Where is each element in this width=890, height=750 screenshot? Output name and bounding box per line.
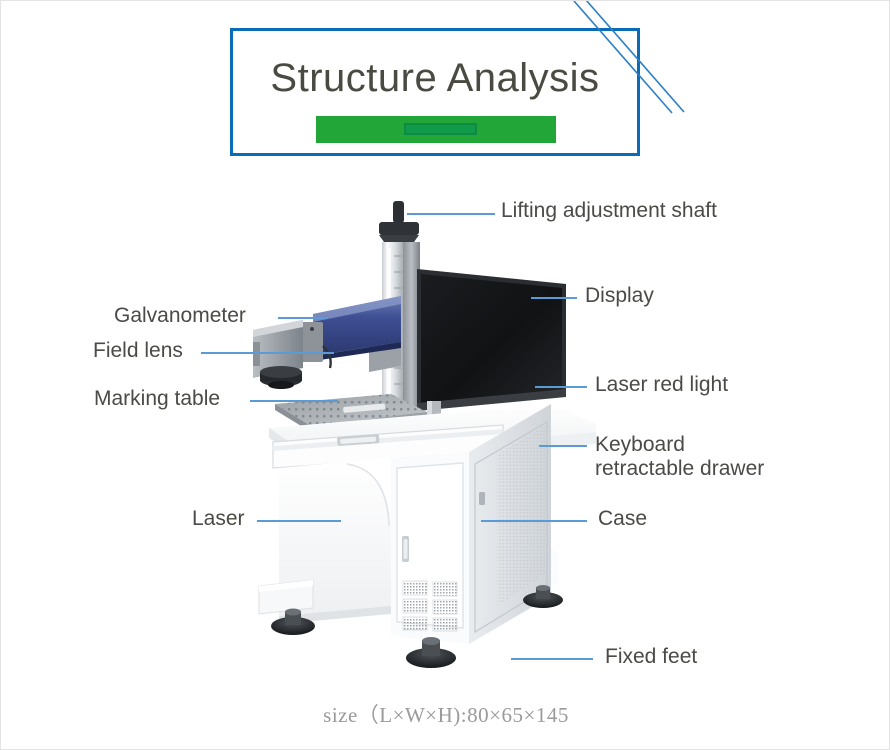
lead-line-galvanometer: [278, 317, 328, 319]
lead-line-field-lens: [201, 352, 334, 354]
laser-marking-machine-illustration: [251, 196, 611, 676]
callout-label-fixed-feet: Fixed feet: [605, 645, 697, 670]
callout-label-keyboard-line2: retractable drawer: [595, 457, 764, 480]
page-title: Structure Analysis: [230, 56, 640, 101]
callout-label-keyboard-line1: Keyboard: [595, 433, 685, 456]
lead-line-laser: [257, 520, 341, 522]
lead-line-case: [481, 520, 587, 522]
callout-label-galvanometer: Galvanometer: [114, 304, 246, 329]
lead-line-keyboard-drawer: [539, 445, 587, 447]
callout-label-laser: Laser: [192, 507, 245, 532]
callout-label-lifting-adjustment-shaft: Lifting adjustment shaft: [501, 199, 717, 224]
callout-label-marking-table: Marking table: [94, 387, 220, 412]
title-accent-bar-inner: [404, 123, 477, 135]
diagram-page: Structure Analysis: [0, 0, 890, 750]
lead-line-lifting-adjustment-shaft: [407, 213, 495, 215]
callout-label-case: Case: [598, 507, 647, 532]
size-caption: size（L×W×H):80×65×145: [1, 699, 890, 729]
lead-line-marking-table: [250, 400, 338, 402]
callout-label-laser-red-light: Laser red light: [595, 373, 728, 398]
callout-label-display: Display: [585, 284, 654, 309]
lead-line-laser-red-light: [535, 386, 587, 388]
callout-label-field-lens: Field lens: [93, 339, 183, 364]
callout-label-keyboard-retractable-drawer: Keyboard retractable drawer: [595, 433, 825, 481]
lead-line-fixed-feet: [511, 658, 593, 660]
title-accent-bar: [316, 116, 556, 143]
lead-line-display: [531, 297, 577, 299]
